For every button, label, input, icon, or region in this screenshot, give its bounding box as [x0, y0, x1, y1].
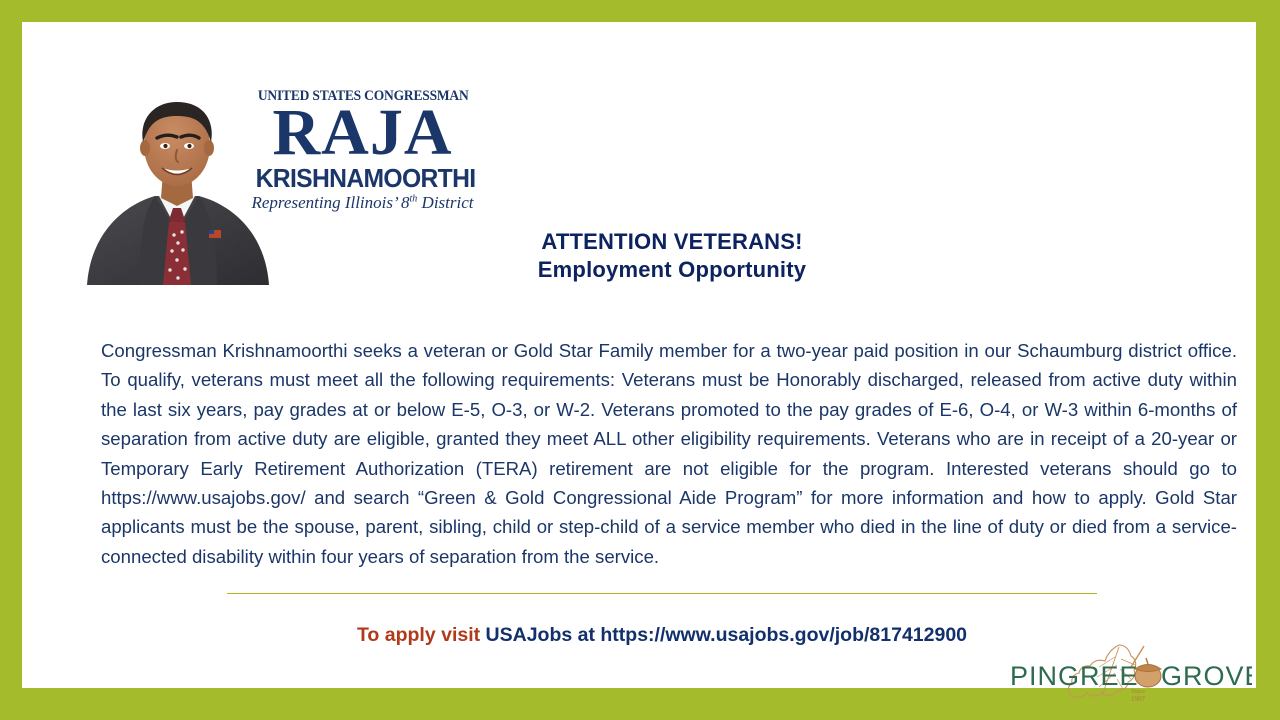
body-paragraph: Congressman Krishnamoorthi seeks a veter… [101, 336, 1237, 571]
acorn-icon [1135, 658, 1161, 687]
apply-link[interactable]: USAJobs at https://www.usajobs.gov/job/8… [486, 624, 968, 646]
wordmark-first-name: RAJA [250, 102, 475, 165]
section-divider [227, 593, 1097, 594]
flyer-slide: UNITED STATES CONGRESSMAN RAJA KRISHNAMO… [0, 0, 1280, 720]
wordmark-eyebrow: UNITED STATES CONGRESSMAN [258, 89, 467, 104]
tagline-pre: Representing Illinois’ 8 [252, 193, 410, 212]
logo-since-year: 1907 [1131, 695, 1146, 703]
flyer-card: UNITED STATES CONGRESSMAN RAJA KRISHNAMO… [22, 22, 1256, 688]
congressman-wordmark: UNITED STATES CONGRESSMAN RAJA KRISHNAMO… [250, 89, 475, 211]
flyer-headings: ATTENTION VETERANS! Employment Opportuni… [322, 228, 1022, 284]
page-title: ATTENTION VETERANS! [322, 228, 1022, 256]
congressman-portrait [77, 80, 277, 285]
tagline-post: District [417, 193, 473, 212]
wordmark-tagline: Representing Illinois’ 8th District [250, 194, 475, 211]
logo-word-right: GROVE [1161, 661, 1252, 691]
apply-instruction: To apply visit USAJobs at https://www.us… [222, 624, 1102, 647]
wordmark-last-name: KRISHNAMOORTHI [256, 165, 470, 191]
pingree-grove-logo: Since 1907 PINGREE GROVE [1007, 639, 1252, 705]
page-subtitle: Employment Opportunity [322, 256, 1022, 284]
logo-word-left: PINGREE [1010, 661, 1139, 691]
apply-prefix: To apply visit [357, 624, 486, 646]
